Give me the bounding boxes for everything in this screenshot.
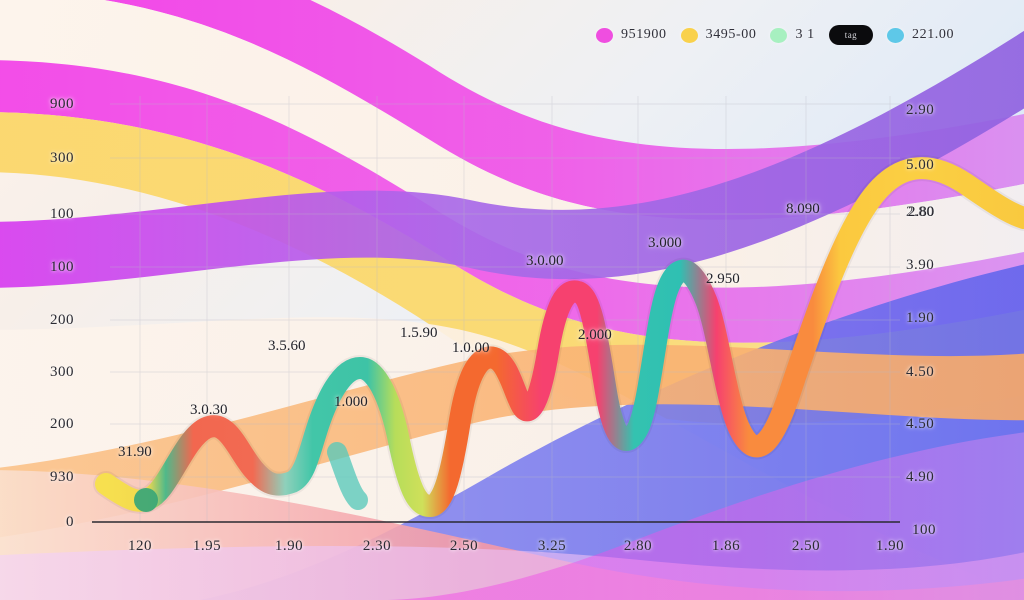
x-axis-tick-9: 1.90 (860, 538, 920, 555)
chart-legend[interactable]: 951900 3495-00 3 1 tag 221.00 (596, 22, 954, 48)
y-axis-right-tick-8: 100 (912, 522, 972, 539)
x-axis-tick-8: 2.50 (776, 538, 836, 555)
legend-swatch-cyan (887, 28, 904, 43)
series-main-line (106, 168, 1024, 506)
y-axis-right-tick-0: 2.90 (906, 102, 966, 119)
y-axis-right-tick-1: 5.00 (906, 157, 966, 174)
y-axis-left-tick-5: 300 (20, 364, 74, 381)
y-axis-left-tick-0: 900 (20, 96, 74, 113)
legend-label-0: 951900 (621, 27, 667, 43)
y-axis-left-tick-2: 100 (20, 206, 74, 223)
data-label-0: 31.90 (118, 444, 152, 461)
data-label-11: 2.80 (908, 204, 934, 221)
y-axis-left-tick-4: 200 (20, 312, 74, 329)
data-label-10: 8.090 (786, 201, 820, 218)
y-axis-right-tick-7: 4.90 (906, 469, 966, 486)
chart-canvas: 951900 3495-00 3 1 tag 221.00 900 300 10… (0, 0, 1024, 600)
data-label-8: 3.000 (648, 235, 682, 252)
legend-label-4: 221.00 (912, 27, 954, 43)
legend-item-4[interactable]: 221.00 (887, 27, 954, 43)
y-axis-right-tick-3: 3.90 (906, 257, 966, 274)
y-axis-left-tick-1: 300 (20, 150, 74, 167)
y-axis-left-tick-7: 930 (20, 469, 74, 486)
data-label-3: 1.000 (334, 394, 368, 411)
y-axis-left-tick-6: 200 (20, 416, 74, 433)
x-axis-tick-5: 3.25 (522, 538, 582, 555)
data-label-6: 3.0.00 (526, 253, 564, 270)
x-axis-tick-1: 1.95 (177, 538, 237, 555)
legend-item-0[interactable]: 951900 (596, 27, 667, 43)
legend-label-1: 3495-00 (706, 27, 757, 43)
legend-item-3-badge[interactable]: tag (829, 25, 873, 45)
x-axis-tick-3: 2.30 (347, 538, 407, 555)
series-paths (0, 0, 1024, 600)
y-axis-right-tick-4: 1.90 (906, 310, 966, 327)
legend-item-2[interactable]: 3 1 (770, 27, 814, 43)
y-axis-left-tick-3: 100 (20, 259, 74, 276)
data-label-9: 2.950 (706, 271, 740, 288)
x-axis-tick-0: 120 (110, 538, 170, 555)
x-axis-tick-4: 2.50 (434, 538, 494, 555)
legend-swatch-yellow (681, 28, 698, 43)
legend-label-2: 3 1 (795, 27, 814, 43)
legend-label-3: tag (845, 30, 857, 40)
series-secondary-teal (337, 452, 358, 500)
x-axis-tick-2: 1.90 (259, 538, 319, 555)
x-axis-tick-6: 2.80 (608, 538, 668, 555)
data-label-1: 3.0.30 (190, 402, 228, 419)
y-axis-left-tick-8: 0 (20, 514, 74, 531)
series-start-marker (134, 488, 158, 512)
data-label-7: 2.000 (578, 327, 612, 344)
legend-item-1[interactable]: 3495-00 (681, 27, 757, 43)
x-axis-tick-7: 1.86 (696, 538, 756, 555)
data-label-5: 1.0.00 (452, 340, 490, 357)
data-label-2: 3.5.60 (268, 338, 306, 355)
y-axis-right-tick-5: 4.50 (906, 364, 966, 381)
legend-swatch-magenta (596, 28, 613, 43)
data-label-4: 1.5.90 (400, 325, 438, 342)
y-axis-right-tick-6: 4.50 (906, 416, 966, 433)
legend-swatch-green (770, 28, 787, 43)
